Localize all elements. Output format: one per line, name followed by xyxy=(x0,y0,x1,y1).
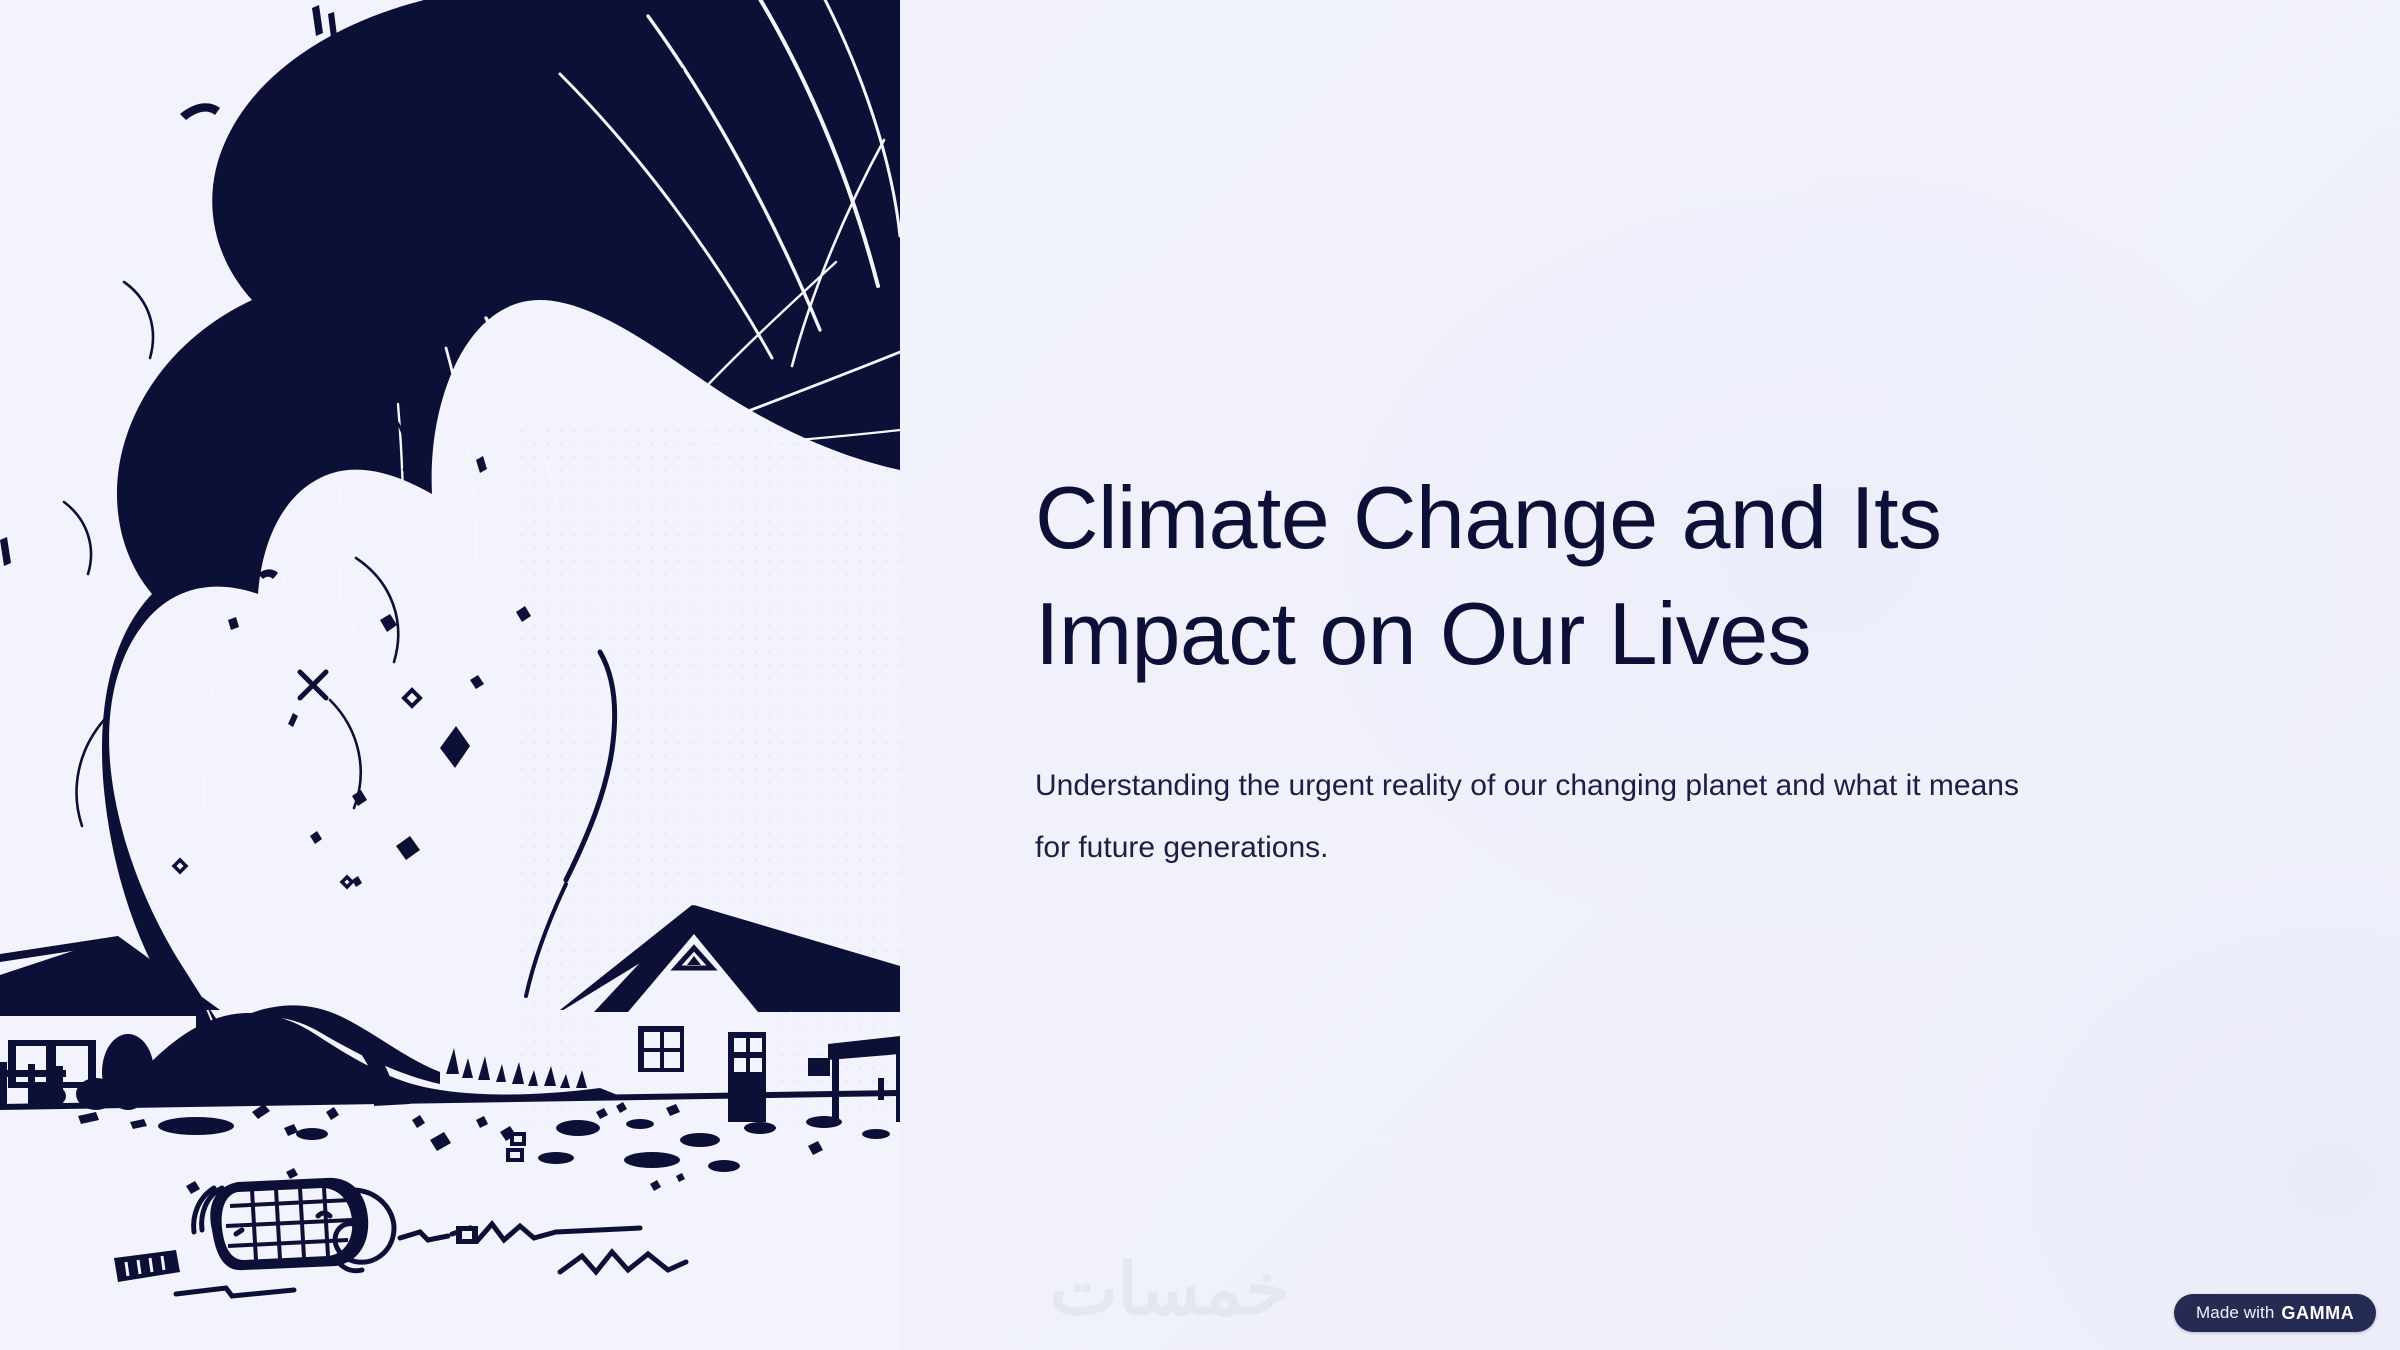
badge-brand-label: GAMMA xyxy=(2281,1303,2354,1324)
slide-canvas: Climate Change and Its Impact on Our Liv… xyxy=(0,0,2400,1350)
text-content-column: Climate Change and Its Impact on Our Liv… xyxy=(1035,0,2305,1350)
small-box-debris xyxy=(456,1226,478,1244)
made-with-gamma-badge[interactable]: Made with GAMMA xyxy=(2174,1294,2376,1332)
khamsat-watermark: خمسات xyxy=(1050,1252,1350,1328)
page-title: Climate Change and Its Impact on Our Liv… xyxy=(1035,460,2285,692)
page-subtitle: Understanding the urgent reality of our … xyxy=(1035,755,2260,879)
badge-prefix-label: Made with xyxy=(2196,1303,2274,1323)
illustration-panel xyxy=(0,0,900,1350)
tornado-illustration xyxy=(0,0,900,1350)
